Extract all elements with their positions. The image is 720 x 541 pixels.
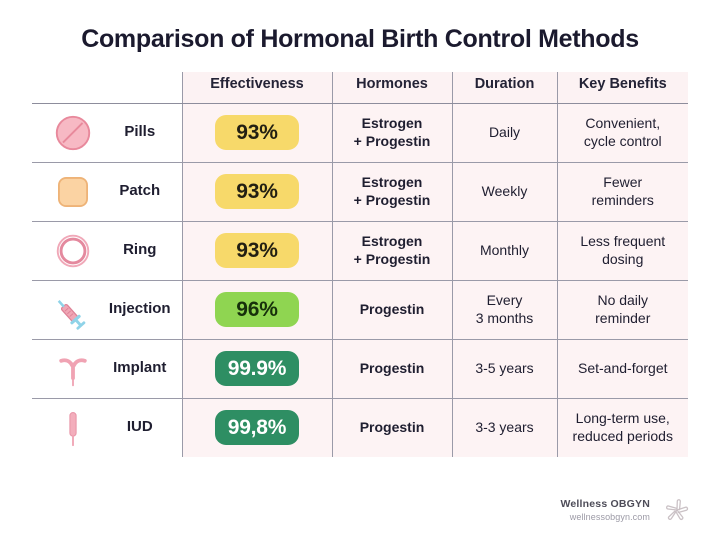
- effectiveness-cell: 99,8%: [182, 398, 332, 457]
- syringe-icon: [50, 287, 96, 333]
- column-header-duration: Duration: [452, 72, 557, 104]
- table-row: Ring93%Estrogen+ ProgestinMonthlyLess fr…: [32, 221, 688, 280]
- benefits-value: Fewerreminders: [558, 170, 689, 212]
- benefits-value: Less frequentdosing: [558, 229, 689, 271]
- method-label: Ring: [102, 241, 182, 259]
- duration-cell: Monthly: [452, 221, 557, 280]
- table-row: Injection96%ProgestinEvery3 monthsNo dai…: [32, 280, 688, 339]
- effectiveness-cell: 99.9%: [182, 339, 332, 398]
- table-header: Effectiveness Hormones Duration Key Bene…: [32, 72, 688, 104]
- hormones-value: Progestin: [333, 297, 452, 322]
- column-header-hormones: Hormones: [332, 72, 452, 104]
- duration-cell: Daily: [452, 103, 557, 162]
- comparison-table-wrapper: Effectiveness Hormones Duration Key Bene…: [32, 72, 688, 457]
- table-row: Pills93%Estrogen+ ProgestinDailyConvenie…: [32, 103, 688, 162]
- effectiveness-cell: 93%: [182, 103, 332, 162]
- hormones-cell: Progestin: [332, 280, 452, 339]
- effectiveness-cell: 93%: [182, 162, 332, 221]
- column-header-effectiveness: Effectiveness: [182, 72, 332, 104]
- effectiveness-badge: 93%: [215, 174, 299, 209]
- duration-value: Weekly: [453, 179, 557, 204]
- duration-cell: 3-3 years: [452, 398, 557, 457]
- method-cell: Injection: [32, 280, 182, 339]
- table-header-row: Effectiveness Hormones Duration Key Bene…: [32, 72, 688, 104]
- benefits-cell: Less frequentdosing: [557, 221, 688, 280]
- hormones-value: Estrogen+ Progestin: [333, 170, 452, 212]
- method-cell: Pills: [32, 103, 182, 162]
- method-cell: IUD: [32, 398, 182, 457]
- effectiveness-cell: 96%: [182, 280, 332, 339]
- hormones-cell: Estrogen+ Progestin: [332, 162, 452, 221]
- infographic-root: Comparison of Hormonal Birth Control Met…: [0, 0, 720, 541]
- effectiveness-badge: 99.9%: [215, 351, 299, 386]
- iud-icon: [50, 405, 96, 451]
- hormones-value: Progestin: [333, 356, 452, 381]
- brand-name: Wellness OBGYN: [560, 498, 650, 510]
- table-row: Patch93%Estrogen+ ProgestinWeeklyFewerre…: [32, 162, 688, 221]
- method-cell: Implant: [32, 339, 182, 398]
- duration-value: 3-5 years: [453, 356, 557, 381]
- column-header-benefits: Key Benefits: [557, 72, 688, 104]
- benefits-cell: Long-term use,reduced periods: [557, 398, 688, 457]
- hormones-cell: Estrogen+ Progestin: [332, 103, 452, 162]
- comparison-table: Effectiveness Hormones Duration Key Bene…: [32, 72, 688, 457]
- table-body: Pills93%Estrogen+ ProgestinDailyConvenie…: [32, 103, 688, 457]
- benefits-cell: Fewerreminders: [557, 162, 688, 221]
- brand-url: wellnessobgyn.com: [560, 512, 650, 522]
- method-label: Pills: [102, 123, 182, 141]
- hormones-value: Estrogen+ Progestin: [333, 229, 452, 271]
- method-label: IUD: [102, 418, 182, 436]
- effectiveness-badge: 99,8%: [215, 410, 299, 445]
- footer-text-group: Wellness OBGYN wellnessobgyn.com: [560, 498, 650, 522]
- duration-value: Monthly: [453, 238, 557, 263]
- benefits-value: Convenient,cycle control: [558, 111, 689, 153]
- duration-cell: 3-5 years: [452, 339, 557, 398]
- effectiveness-badge: 93%: [215, 115, 299, 150]
- method-label: Patch: [102, 182, 182, 200]
- duration-value: 3-3 years: [453, 415, 557, 440]
- effectiveness-badge: 93%: [215, 233, 299, 268]
- hormones-cell: Estrogen+ Progestin: [332, 221, 452, 280]
- duration-value: Daily: [453, 120, 557, 145]
- table-row: IUD99,8%Progestin3-3 yearsLong-term use,…: [32, 398, 688, 457]
- patch-icon: [50, 169, 96, 215]
- benefits-value: Long-term use,reduced periods: [558, 406, 689, 448]
- pill-icon: [50, 110, 96, 156]
- duration-value: Every3 months: [453, 288, 557, 330]
- flower-icon: [662, 495, 692, 525]
- column-header-method: [32, 72, 182, 104]
- benefits-value: Set-and-forget: [558, 356, 689, 381]
- ring-icon: [50, 228, 96, 274]
- method-cell: Patch: [32, 162, 182, 221]
- table-row: Implant99.9%Progestin3-5 yearsSet-and-fo…: [32, 339, 688, 398]
- duration-cell: Weekly: [452, 162, 557, 221]
- page-title: Comparison of Hormonal Birth Control Met…: [0, 0, 720, 54]
- effectiveness-cell: 93%: [182, 221, 332, 280]
- benefits-value: No dailyreminder: [558, 288, 689, 330]
- duration-cell: Every3 months: [452, 280, 557, 339]
- benefits-cell: No dailyreminder: [557, 280, 688, 339]
- method-cell: Ring: [32, 221, 182, 280]
- hormones-value: Estrogen+ Progestin: [333, 111, 452, 153]
- hormones-cell: Progestin: [332, 398, 452, 457]
- method-label: Implant: [102, 359, 182, 377]
- benefits-cell: Convenient,cycle control: [557, 103, 688, 162]
- hormones-cell: Progestin: [332, 339, 452, 398]
- method-label: Injection: [102, 300, 182, 318]
- effectiveness-badge: 96%: [215, 292, 299, 327]
- hormones-value: Progestin: [333, 415, 452, 440]
- implant-icon: [50, 346, 96, 392]
- benefits-cell: Set-and-forget: [557, 339, 688, 398]
- footer-branding: Wellness OBGYN wellnessobgyn.com: [560, 495, 692, 525]
